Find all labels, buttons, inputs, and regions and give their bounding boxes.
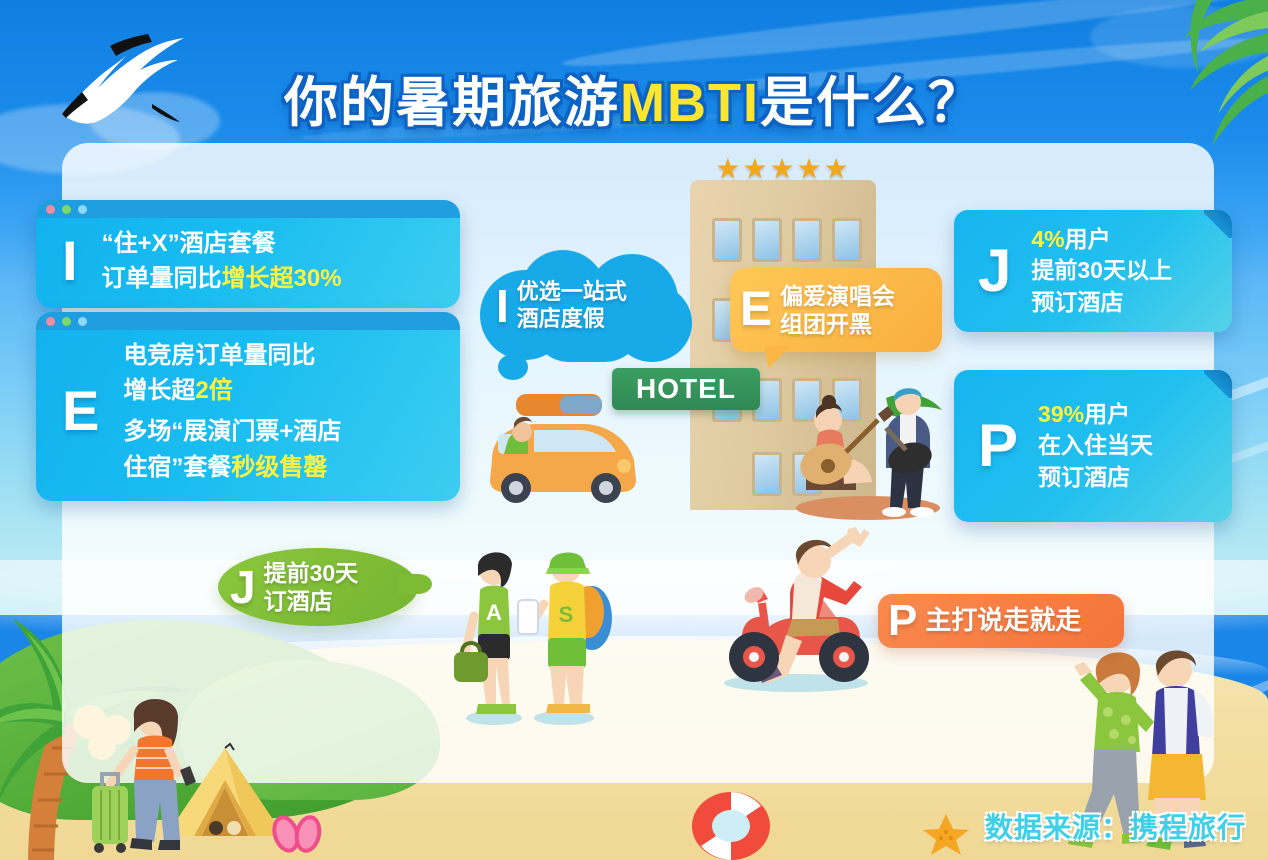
window-dot-blue [78, 205, 87, 214]
card-text: “住+X”酒店套餐 订单量同比增长超30% [102, 228, 342, 294]
data-source-label: 数据来源：携程旅行 [985, 806, 1246, 846]
title-highlight: MBTI [620, 73, 760, 133]
text-run-highlight: 4% [1031, 226, 1064, 252]
text-run: 在入住当天 [1038, 432, 1153, 458]
card-line: 电竞房订单量同比 [123, 340, 341, 371]
bubble-letter: J [230, 564, 256, 610]
card-line: 多场“展演门票+酒店 [123, 416, 341, 447]
bubble-letter: E [740, 286, 772, 334]
card-text: 4%用户 提前30天以上 预订酒店 [1031, 224, 1172, 317]
musicians-illustration [782, 372, 952, 522]
infographic-canvas: 你的暑期旅游MBTI是什么？ ★★★★★ HOTEL [0, 0, 1268, 860]
text-run: 预订酒店 [1038, 464, 1130, 490]
card-titlebar [36, 312, 460, 330]
card-line: “住+X”酒店套餐 [102, 228, 342, 259]
card-line: 订单量同比增长超30% [102, 263, 342, 294]
bubble-line: 提前30天 [264, 559, 359, 587]
page-title: 你的暑期旅游MBTI是什么？ [0, 58, 1268, 137]
bubble-text: 主打说走就走 [925, 605, 1081, 637]
text-run: 增长超 [123, 377, 195, 404]
hotel-star-rating: ★★★★★ [690, 152, 876, 185]
text-run: “住+X”酒店套餐 [102, 230, 276, 257]
bubble-text: 偏爱演唱会 组团开黑 [780, 282, 895, 338]
card-line: 预订酒店 [1038, 462, 1153, 493]
text-run: 预订酒店 [1031, 289, 1123, 315]
card-body: E 电竞房订单量同比 增长超2倍 多场“展演门票+酒店 住宿”套餐秒级售罄 [36, 330, 460, 501]
stat-card-j[interactable]: J 4%用户 提前30天以上 预订酒店 [954, 210, 1232, 332]
card-line: 提前30天以上 [1031, 255, 1172, 286]
card-line: 增长超2倍 [123, 375, 341, 406]
card-titlebar [36, 200, 460, 218]
bubble-e[interactable]: E 偏爱演唱会 组团开黑 [730, 268, 942, 352]
bubble-p[interactable]: P 主打说走就走 [878, 594, 1124, 648]
text-run-highlight: 2倍 [195, 377, 232, 404]
card-line: 在入住当天 [1038, 430, 1153, 461]
window-dot-red [46, 205, 55, 214]
stat-card-e[interactable]: E 电竞房订单量同比 增长超2倍 多场“展演门票+酒店 住宿”套餐秒级售罄 [36, 312, 460, 501]
card-line: 住宿”套餐秒级售罄 [123, 452, 341, 483]
window-dot-blue [78, 317, 87, 326]
cloud-tail [498, 354, 528, 380]
bubble-line: 组团开黑 [780, 310, 895, 338]
text-run: 用户 [1084, 401, 1130, 427]
card-line: 39%用户 [1038, 399, 1153, 430]
text-run: 住宿”套餐 [123, 454, 231, 481]
text-run: 提前30天以上 [1031, 257, 1172, 283]
svg-text:A: A [486, 600, 502, 625]
title-prefix: 你的暑期旅游 [284, 73, 620, 133]
card-body: I “住+X”酒店套餐 订单量同比增长超30% [36, 218, 460, 308]
title-suffix: 是什么？ [760, 73, 984, 133]
text-run-highlight: 增长超30% [222, 265, 342, 292]
bubble-letter: P [888, 599, 917, 643]
window-dot-red [46, 317, 55, 326]
bubble-line: 酒店度假 [517, 306, 627, 333]
text-run-highlight: 39% [1038, 401, 1084, 427]
life-ring-icon [690, 790, 772, 860]
text-run: 用户 [1065, 226, 1111, 252]
stat-card-i[interactable]: I “住+X”酒店套餐 订单量同比增长超30% [36, 200, 460, 308]
flipflops-icon [268, 812, 326, 854]
card-line: 预订酒店 [1031, 287, 1172, 318]
bubble-line: 优选一站式 [517, 279, 627, 306]
bubble-letter: I [496, 283, 509, 329]
bubble-text: 优选一站式 酒店度假 [517, 279, 627, 333]
card-letter: I [52, 233, 88, 289]
window-dot-green [62, 317, 71, 326]
card-text: 电竞房订单量同比 增长超2倍 多场“展演门票+酒店 住宿”套餐秒级售罄 [123, 340, 341, 483]
hikers-illustration: A S [452, 540, 622, 730]
card-text: 39%用户 在入住当天 预订酒店 [1038, 399, 1153, 492]
card-letter: P [972, 416, 1026, 476]
bubble-line: 订酒店 [264, 587, 359, 615]
window-dot-green [62, 205, 71, 214]
bubble-line: 偏爱演唱会 [780, 282, 895, 310]
svg-text:S: S [559, 602, 574, 627]
text-run: 电竞房订单量同比 [123, 342, 315, 369]
bubble-line: 主打说走就走 [925, 605, 1081, 637]
card-letter: E [52, 383, 109, 439]
starfish-icon [922, 812, 970, 856]
traveler-with-suitcase [88, 690, 218, 860]
text-run-highlight: 秒级售罄 [231, 454, 327, 481]
scooter-icon [706, 525, 886, 695]
stat-card-p[interactable]: P 39%用户 在入住当天 预订酒店 [954, 370, 1232, 522]
car-icon [478, 388, 648, 508]
text-run: 多场“展演门票+酒店 [123, 418, 341, 445]
bubble-i[interactable]: I 优选一站式 酒店度假 [480, 250, 696, 362]
bubble-j[interactable]: J 提前30天 订酒店 [218, 548, 418, 626]
card-letter: J [972, 241, 1019, 301]
card-line: 4%用户 [1031, 224, 1172, 255]
bubble-text: 提前30天 订酒店 [264, 559, 359, 615]
text-run: 订单量同比 [102, 265, 222, 292]
